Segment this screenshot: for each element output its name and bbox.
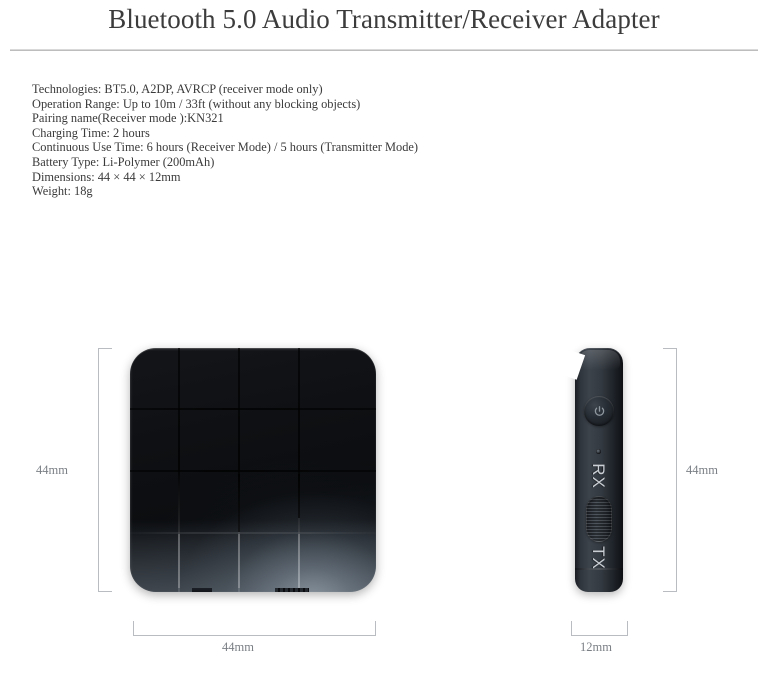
product-figure-area: 44mm 44mm RX TX 44mm 12mm (0, 330, 768, 690)
spec-weight: Weight: 18g (32, 184, 502, 199)
side-top-bevel (562, 350, 586, 380)
side-width-label: 12mm (580, 640, 612, 655)
front-width-bracket-right (375, 621, 376, 636)
front-height-bracket-line (98, 348, 99, 592)
front-height-bracket-bottom (98, 591, 112, 592)
power-icon (593, 405, 606, 418)
front-width-bracket-line (133, 635, 376, 636)
spec-charging-time: Charging Time: 2 hours (32, 126, 502, 141)
power-button[interactable] (584, 396, 614, 426)
side-height-bracket-line (676, 348, 677, 592)
rx-tx-mode-slider[interactable] (586, 496, 612, 542)
spec-operation-range: Operation Range: Up to 10m / 33ft (witho… (32, 97, 502, 112)
usb-port (275, 588, 309, 592)
side-height-label: 44mm (686, 463, 718, 478)
spec-technologies: Technologies: BT5.0, A2DP, AVRCP (receiv… (32, 82, 502, 97)
aux-port (192, 588, 212, 592)
front-height-bracket-top (98, 348, 112, 349)
device-side-view: RX TX (575, 348, 623, 592)
front-width-bracket-left (133, 621, 134, 636)
front-panel-reflection (130, 520, 376, 592)
rx-mode-label: RX (588, 459, 608, 493)
side-bottom-seam (575, 568, 623, 570)
spec-pairing-name: Pairing name(Receiver mode ):KN321 (32, 111, 502, 126)
spec-battery-type: Battery Type: Li-Polymer (200mAh) (32, 155, 502, 170)
page-title: Bluetooth 5.0 Audio Transmitter/Receiver… (0, 4, 768, 35)
side-width-bracket-line (571, 635, 628, 636)
side-width-bracket-right (627, 621, 628, 636)
led-indicator (596, 449, 601, 454)
device-front-view (130, 348, 376, 592)
front-panel-grid (130, 348, 376, 592)
title-divider (10, 49, 758, 51)
specifications-list: Technologies: BT5.0, A2DP, AVRCP (receiv… (32, 82, 502, 199)
side-top-highlight (578, 350, 620, 370)
side-height-bracket-top (663, 348, 677, 349)
front-height-label: 44mm (36, 463, 68, 478)
side-width-bracket-left (571, 621, 572, 636)
front-width-label: 44mm (222, 640, 254, 655)
spec-continuous-use-time: Continuous Use Time: 6 hours (Receiver M… (32, 140, 502, 155)
side-height-bracket-bottom (663, 591, 677, 592)
spec-dimensions: Dimensions: 44 × 44 × 12mm (32, 170, 502, 185)
